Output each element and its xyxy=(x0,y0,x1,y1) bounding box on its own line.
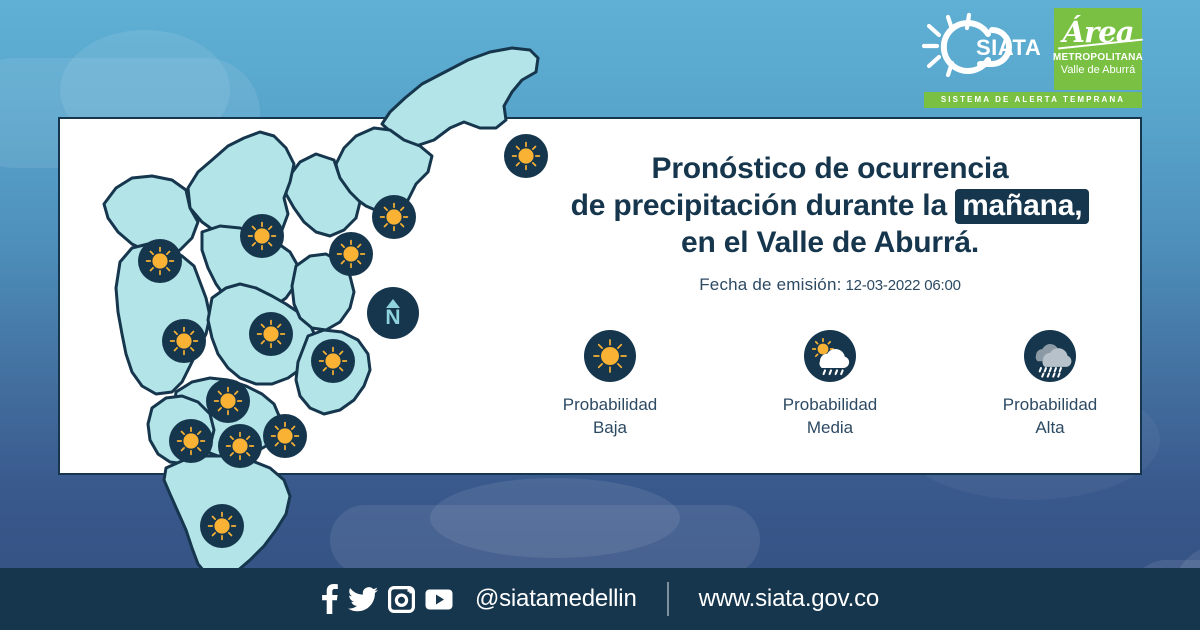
social-handle[interactable]: @siatamedellin xyxy=(475,585,637,613)
legend-label-medium: Probabilidad Media xyxy=(783,393,878,439)
twitter-icon[interactable] xyxy=(348,587,378,612)
legend-icon-low xyxy=(584,330,636,382)
marker-la-estrella xyxy=(169,419,213,463)
website-url[interactable]: www.siata.gov.co xyxy=(699,585,879,613)
logo-group: SIATA Área METROPOLITANA Valle de Aburrá xyxy=(914,8,1142,90)
marker-bello-norte xyxy=(138,239,182,283)
issue-date-label: Fecha de emisión: xyxy=(699,275,841,294)
infographic-root: N xyxy=(0,0,1200,630)
youtube-icon[interactable] xyxy=(425,589,453,610)
footer-bar: @siatamedellin www.siata.gov.co xyxy=(0,568,1200,630)
area-line1: METROPOLITANA xyxy=(1053,52,1143,64)
footer-divider xyxy=(667,582,669,616)
sun-cloud-rain-icon xyxy=(804,330,856,382)
marker-envigado xyxy=(263,414,307,458)
marker-itagui xyxy=(206,379,250,423)
marker-copacabana xyxy=(329,232,373,276)
compass-rose: N xyxy=(367,287,419,339)
valle-de-aburra-map: N xyxy=(60,36,540,566)
legend-item-low: Probabilidad Baja xyxy=(515,330,705,439)
legend-label-low: Probabilidad Baja xyxy=(563,393,658,439)
sun-icon xyxy=(263,414,307,458)
facebook-icon[interactable] xyxy=(321,584,338,614)
marker-medellin-w xyxy=(162,319,206,363)
sun-icon xyxy=(218,424,262,468)
probability-legend: Probabilidad Baja Probabilidad Media xyxy=(500,330,1160,439)
sun-icon xyxy=(169,419,213,463)
instagram-icon[interactable] xyxy=(388,586,415,613)
sun-icon xyxy=(162,319,206,363)
title-line-2: de precipitación durante la mañana, xyxy=(500,187,1160,224)
tagline-banner: SISTEMA DE ALERTA TEMPRANA xyxy=(924,92,1142,108)
marker-sabaneta xyxy=(218,424,262,468)
legend-icon-medium xyxy=(804,330,856,382)
marker-caldas xyxy=(200,504,244,548)
title-line-3: en el Valle de Aburrá. xyxy=(500,224,1160,261)
area-script: Área xyxy=(1062,12,1133,52)
social-icons xyxy=(321,584,453,614)
sun-icon xyxy=(311,339,355,383)
compass-label: N xyxy=(385,309,400,327)
legend-icon-high xyxy=(1024,330,1076,382)
sun-icon xyxy=(584,330,636,382)
page-title: Pronóstico de ocurrencia de precipitació… xyxy=(500,150,1160,261)
title-line-2-text: de precipitación durante la xyxy=(571,189,947,222)
sun-icon xyxy=(206,379,250,423)
sun-icon xyxy=(329,232,373,276)
cloud-rain-icon xyxy=(1024,330,1076,382)
area-metropolitana-logo: Área METROPOLITANA Valle de Aburrá xyxy=(1054,8,1142,90)
siata-wordmark: SIATA xyxy=(976,35,1041,60)
sun-icon xyxy=(200,504,244,548)
area-line2: Valle de Aburrá xyxy=(1061,64,1135,76)
issue-date: Fecha de emisión:12-03-2022 06:00 xyxy=(500,275,1160,295)
forecast-panel: Pronóstico de ocurrencia de precipitació… xyxy=(500,150,1160,295)
siata-logo: SIATA xyxy=(914,8,1044,86)
marker-medellin-e xyxy=(311,339,355,383)
sun-icon xyxy=(138,239,182,283)
issue-date-value: 12-03-2022 06:00 xyxy=(846,277,961,294)
legend-label-high: Probabilidad Alta xyxy=(1003,393,1098,439)
legend-item-high: Probabilidad Alta xyxy=(955,330,1145,439)
title-line-1: Pronóstico de ocurrencia xyxy=(500,150,1160,187)
legend-item-medium: Probabilidad Media xyxy=(735,330,925,439)
marker-san-pedro xyxy=(240,214,284,258)
period-highlight: mañana, xyxy=(955,189,1089,224)
sun-icon xyxy=(372,195,416,239)
marker-bello xyxy=(249,312,293,356)
marker-girardota xyxy=(372,195,416,239)
sun-icon xyxy=(240,214,284,258)
sun-icon xyxy=(249,312,293,356)
sun-cloud-icon: SIATA xyxy=(914,8,1044,86)
